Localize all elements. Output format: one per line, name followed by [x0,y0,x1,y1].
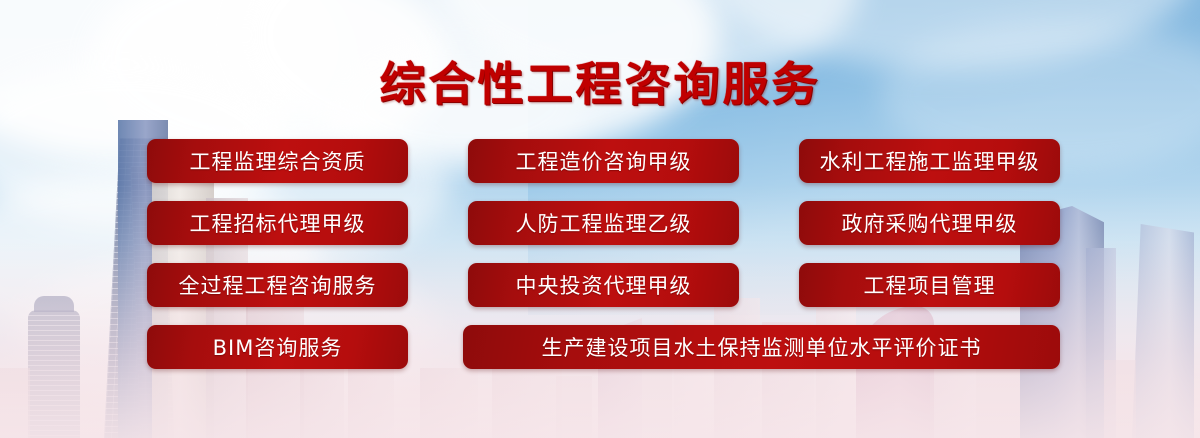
qualification-badge[interactable]: 人防工程监理乙级 [468,201,739,245]
qualification-badge[interactable]: 全过程工程咨询服务 [147,263,408,307]
title-container: 综合性工程咨询服务 [0,48,1200,114]
building [28,310,80,438]
building [556,376,592,438]
qualification-badge[interactable]: 水利工程施工监理甲级 [799,139,1060,183]
qualification-badge[interactable]: 中央投资代理甲级 [468,263,739,307]
qualification-badge[interactable]: 政府采购代理甲级 [799,201,1060,245]
qualification-badge[interactable]: BIM咨询服务 [147,325,408,369]
building [0,368,30,438]
qualification-badge[interactable]: 工程造价咨询甲级 [468,139,739,183]
qualification-banner: 综合性工程咨询服务 工程监理综合资质 工程造价咨询甲级 水利工程施工监理甲级 工… [0,0,1200,438]
qualification-badge[interactable]: 生产建设项目水土保持监测单位水平评价证书 [463,325,1060,369]
qualification-badge[interactable]: 工程监理综合资质 [147,139,408,183]
page-title: 综合性工程咨询服务 [380,48,821,114]
building [1132,224,1194,438]
qualification-badge[interactable]: 工程项目管理 [799,263,1060,307]
building [976,364,1020,438]
qualification-badge[interactable]: 工程招标代理甲级 [147,201,408,245]
building [420,368,478,438]
building [34,296,74,312]
qualification-grid: 工程监理综合资质 工程造价咨询甲级 水利工程施工监理甲级 工程招标代理甲级 人防… [147,139,1060,369]
building [1104,360,1136,438]
